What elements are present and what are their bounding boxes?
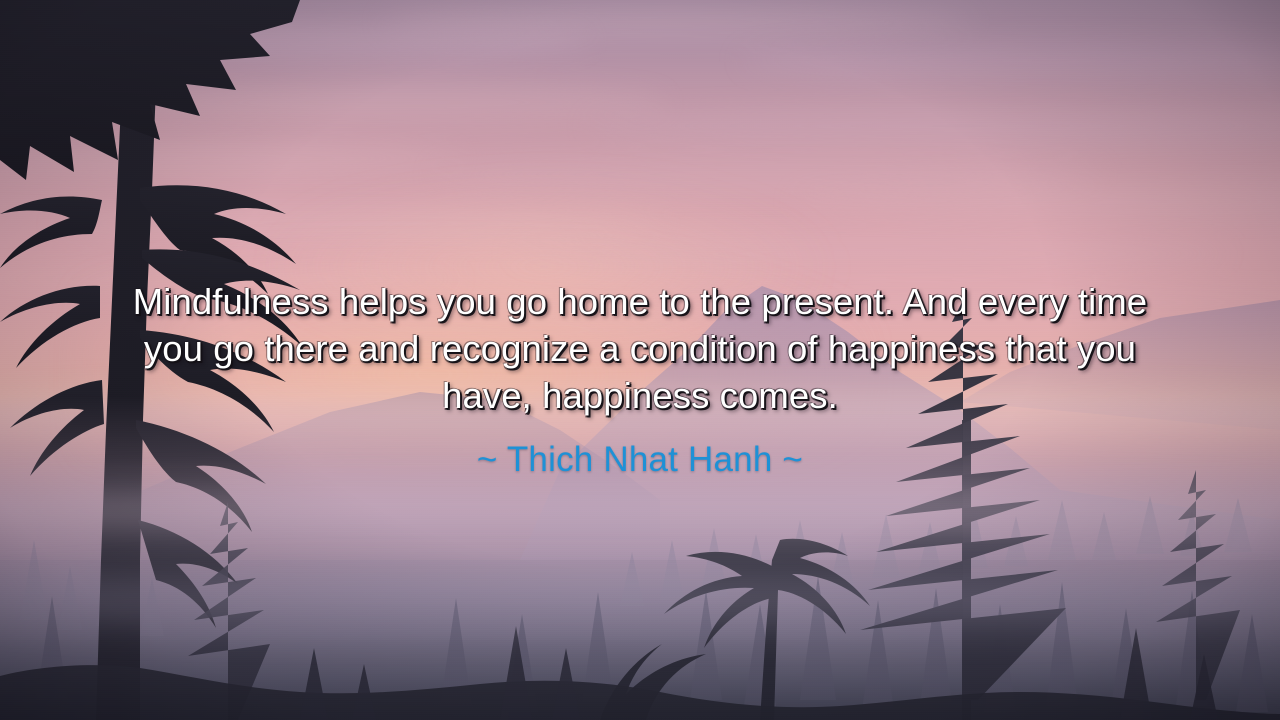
quote-wallpaper: Mindfulness helps you go home to the pre… — [0, 0, 1280, 720]
text-overlay: Mindfulness helps you go home to the pre… — [0, 0, 1280, 720]
quote-text: Mindfulness helps you go home to the pre… — [76, 278, 1204, 419]
quote-attribution: ~ Thich Nhat Hanh ~ — [477, 440, 803, 480]
